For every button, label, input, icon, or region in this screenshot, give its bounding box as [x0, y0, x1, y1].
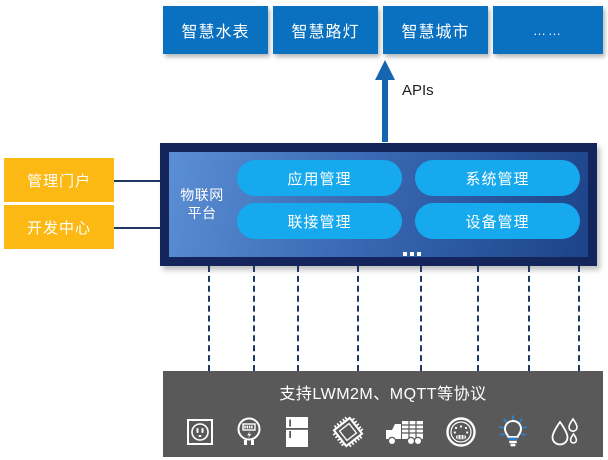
development-center-connector	[114, 227, 164, 229]
lightbulb-icon	[497, 415, 529, 449]
iot-platform-title-line2: 平台	[188, 205, 217, 223]
app-box-label: 智慧城市	[401, 18, 469, 42]
gauge-meter-icon	[445, 416, 477, 448]
module-device-management[interactable]: 设备管理	[415, 203, 580, 239]
electric-meter-icon	[235, 416, 263, 448]
development-center-label: 开发中心	[27, 217, 91, 238]
more-modules-indicator	[403, 252, 421, 256]
iot-platform-title-line1: 物联网	[180, 187, 224, 205]
dashed-connector-6	[477, 266, 479, 371]
app-box-smart-city[interactable]: 智慧城市	[383, 6, 488, 54]
development-center-box[interactable]: 开发中心	[4, 205, 114, 249]
module-label: 系统管理	[465, 168, 529, 189]
app-box-label: 智慧路灯	[291, 18, 359, 42]
iot-platform-title: 物联网 平台	[169, 152, 235, 257]
diagram-canvas: 智慧水表 智慧路灯 智慧城市 …… APIs 管理门户 开发中心 物联网 平台	[0, 0, 608, 460]
app-box-smart-streetlight[interactable]: 智慧路灯	[273, 6, 378, 54]
power-socket-icon	[185, 417, 215, 447]
chip-icon	[331, 415, 365, 449]
app-box-smart-water-meter[interactable]: 智慧水表	[163, 6, 268, 54]
dashed-connector-7	[528, 266, 530, 371]
dashed-connector-2	[253, 266, 255, 371]
app-box-more[interactable]: ……	[493, 6, 603, 54]
device-layer-bar: 支持LWM2M、MQTT等协议	[163, 371, 603, 457]
dashed-connector-3	[297, 266, 299, 371]
module-system-management[interactable]: 系统管理	[415, 160, 580, 196]
app-box-label: 智慧水表	[181, 18, 249, 42]
apis-arrow-icon	[374, 60, 396, 142]
iot-platform-box: 物联网 平台 应用管理 系统管理 联接管理 设备管理	[160, 143, 597, 266]
iot-platform-inner-panel: 物联网 平台 应用管理 系统管理 联接管理 设备管理	[169, 152, 588, 257]
water-drop-icon	[549, 415, 581, 449]
dashed-connector-5	[420, 266, 422, 371]
apis-label: APIs	[402, 82, 434, 99]
protocol-support-label: 支持LWM2M、MQTT等协议	[163, 380, 603, 404]
refrigerator-icon	[283, 416, 311, 448]
module-label: 设备管理	[465, 211, 529, 232]
module-label: 应用管理	[287, 168, 351, 189]
module-label: 联接管理	[287, 211, 351, 232]
management-portal-connector	[114, 180, 164, 182]
device-icon-row	[163, 409, 603, 455]
management-portal-box[interactable]: 管理门户	[4, 158, 114, 202]
platform-module-grid: 应用管理 系统管理 联接管理 设备管理	[235, 152, 588, 257]
truck-icon	[385, 417, 425, 447]
module-application-management[interactable]: 应用管理	[237, 160, 402, 196]
dashed-connector-8	[578, 266, 580, 371]
management-portal-label: 管理门户	[27, 170, 91, 191]
app-box-label: ……	[533, 23, 563, 38]
module-connection-management[interactable]: 联接管理	[237, 203, 402, 239]
dashed-connector-4	[357, 266, 359, 371]
dashed-connector-1	[208, 266, 210, 371]
application-row: 智慧水表 智慧路灯 智慧城市 ……	[163, 6, 603, 54]
